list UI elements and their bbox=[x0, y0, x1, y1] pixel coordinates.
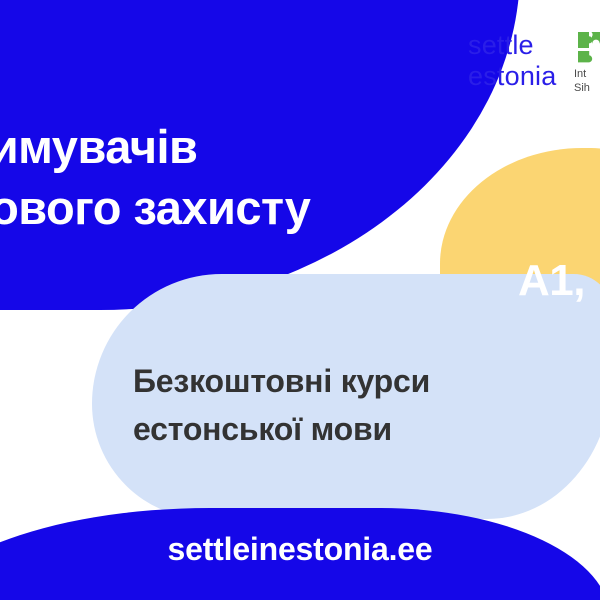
card-copy-line-1: Безкоштовні курси bbox=[133, 357, 553, 405]
website-url[interactable]: settleinestonia.ee bbox=[0, 531, 600, 568]
headline-line-1: отримувачів bbox=[0, 116, 472, 177]
headline: отримувачів часового захисту bbox=[0, 116, 472, 238]
partner-name: Int Sih bbox=[574, 68, 600, 96]
partner-logo[interactable]: Int Sih bbox=[574, 30, 600, 96]
card-copy: Безкоштовні курси естонської мови bbox=[133, 357, 553, 453]
partner-name-line-1: Int bbox=[574, 68, 600, 82]
puzzle-piece-icon bbox=[574, 30, 600, 64]
headline-line-2: часового захисту bbox=[0, 177, 472, 238]
promo-banner: отримувачів часового захисту A1, Безкошт… bbox=[0, 0, 600, 600]
wordmark-line-1: settle bbox=[468, 30, 556, 61]
language-level-badge: A1, bbox=[518, 256, 585, 306]
card-copy-line-2: естонської мови bbox=[133, 405, 553, 453]
settle-estonia-logo[interactable]: settle estonia bbox=[468, 30, 556, 92]
partner-name-line-2: Sih bbox=[574, 82, 600, 96]
wordmark-line-2: estonia bbox=[468, 61, 556, 92]
